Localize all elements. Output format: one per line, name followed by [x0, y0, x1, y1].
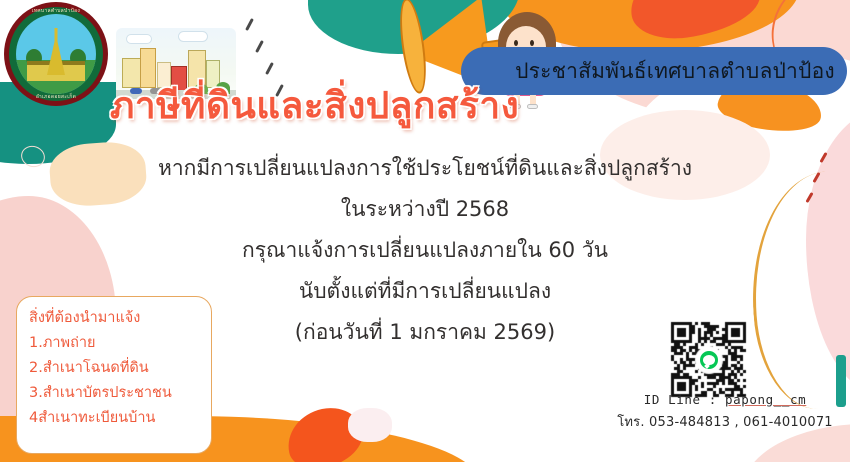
contact-info: ID Line : papong__cm โทร. 053-484813 , 0… — [600, 392, 850, 432]
cloud-icon — [126, 34, 152, 44]
body-line: หากมีการเปลี่ยนแปลงการใช้ประโยชน์ที่ดินแ… — [0, 148, 850, 189]
line-id-value[interactable]: papong__cm — [725, 392, 806, 407]
body-line: ในระหว่างปี 2568 — [0, 189, 850, 230]
line-id-label: ID Line : — [644, 392, 725, 407]
girl-eye — [514, 40, 518, 46]
line-qr-code[interactable] — [666, 320, 752, 400]
girl-shoe — [527, 104, 538, 109]
confetti-dash — [255, 40, 264, 53]
pale-pebble-shape — [348, 408, 392, 442]
list-item: 4สำเนาทะเบียนบ้าน — [29, 406, 201, 431]
list-item: 3.สำเนาบัตรประชาชน — [29, 381, 201, 406]
seal-emblem — [16, 14, 96, 94]
seal-spire — [55, 28, 58, 44]
seal-bottom-text: อำเภอดอยสะเก็ด — [4, 93, 108, 101]
list-item: 2.สำเนาโฉนดที่ดิน — [29, 356, 201, 381]
poster-canvas: เทศบาลตำบลป่าป้อง อำเภอดอยสะเก็ด — [0, 0, 850, 462]
phone-numbers: โทร. 053-484813 , 061-4010071 — [600, 411, 850, 432]
girl-eye — [530, 40, 534, 46]
list-item: 1.ภาพถ่าย — [29, 331, 201, 356]
required-documents-title: สิ่งที่ต้องนำมาแจ้ง — [29, 306, 201, 331]
municipality-seal-logo: เทศบาลตำบลป่าป้อง อำเภอดอยสะเก็ด — [4, 2, 108, 106]
confetti-dash — [245, 18, 254, 31]
line-id-row: ID Line : papong__cm — [600, 392, 850, 407]
required-documents-card: สิ่งที่ต้องนำมาแจ้ง 1.ภาพถ่าย 2.สำเนาโฉน… — [16, 296, 212, 454]
body-line: กรุณาแจ้งการเปลี่ยนแปลงภายใน 60 วัน — [0, 230, 850, 271]
page-title: ภาษีที่ดินและสิ่งปลูกสร้าง — [110, 76, 519, 135]
confetti-dash — [265, 62, 274, 75]
seal-top-text: เทศบาลตำบลป่าป้อง — [4, 7, 108, 15]
line-logo-icon — [698, 349, 720, 371]
cloud-icon — [178, 31, 208, 42]
